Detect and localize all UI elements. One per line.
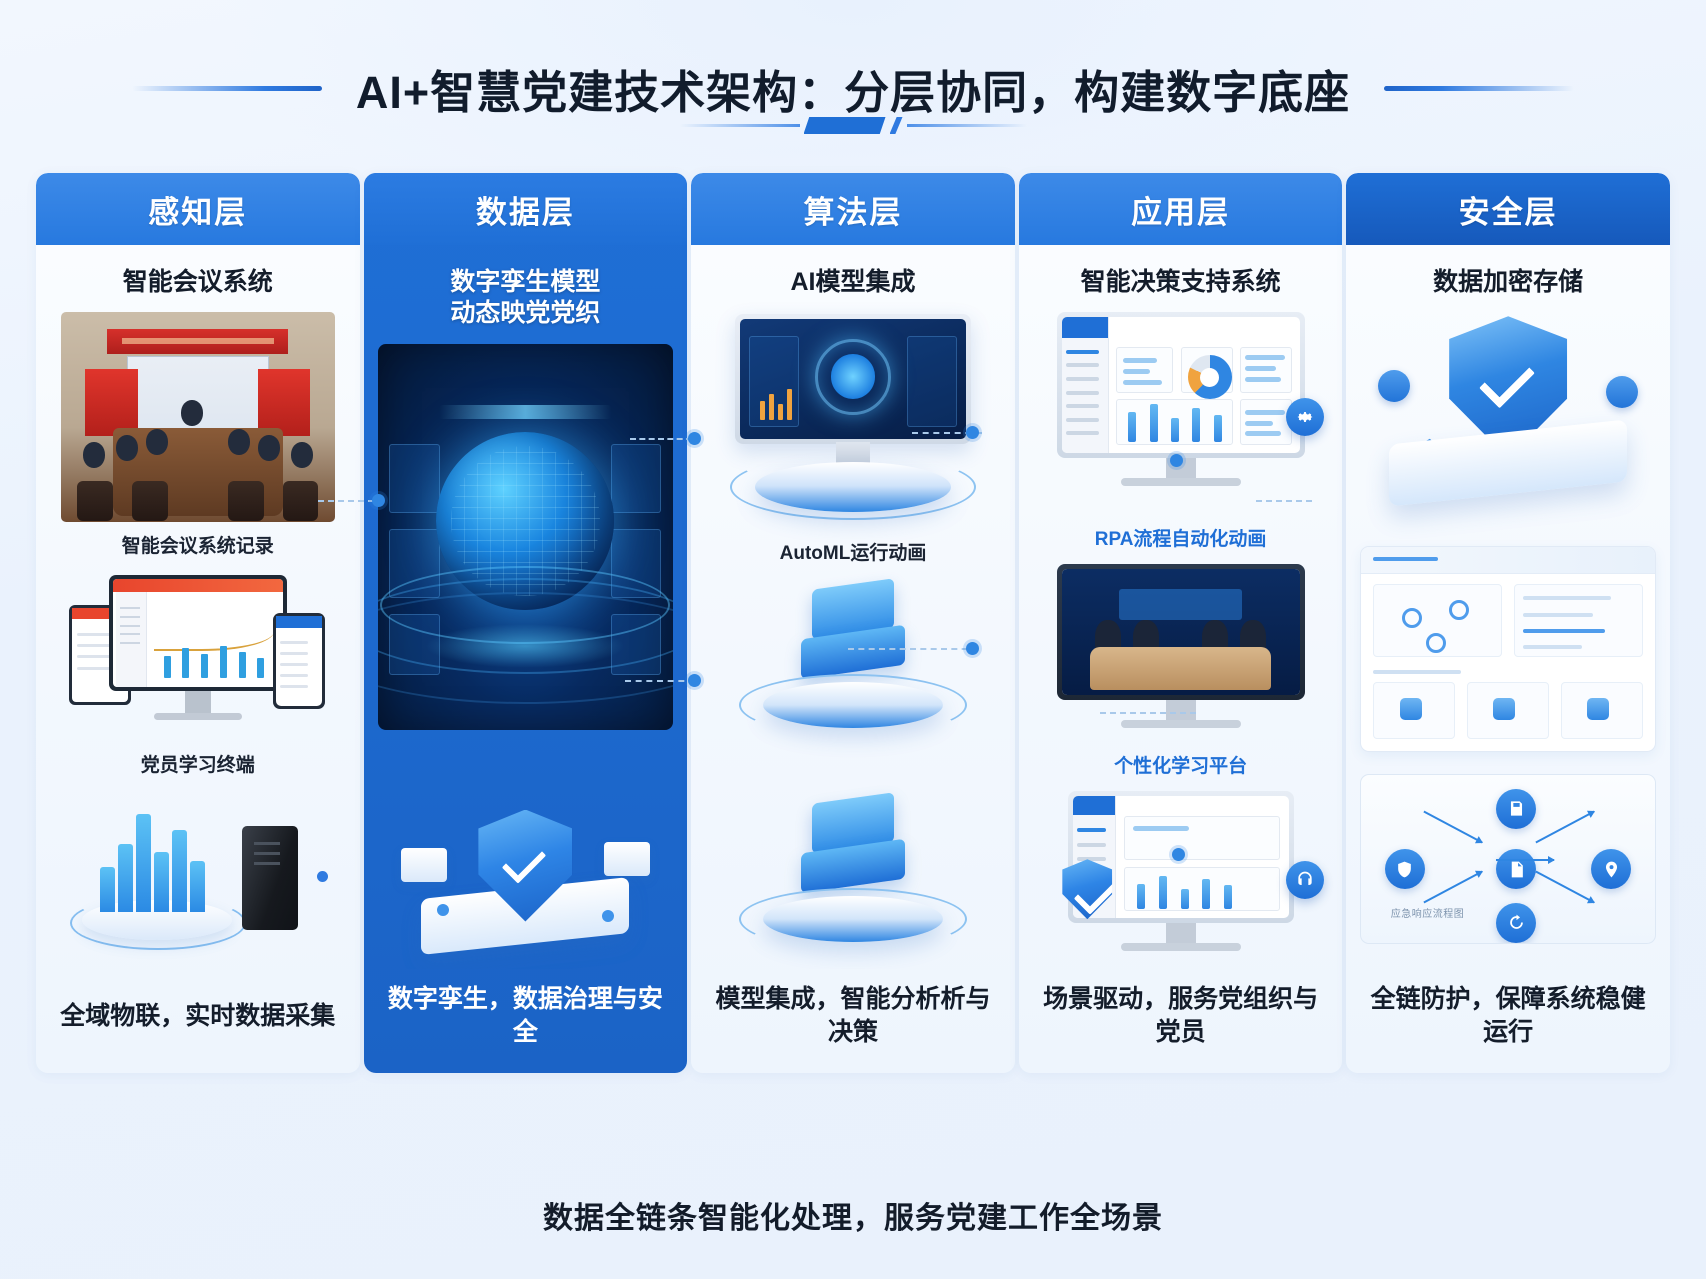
column-header-label: 感知层 [148, 187, 247, 232]
nav-header [1062, 317, 1109, 337]
node-circle [1426, 633, 1446, 653]
twin-header-bar [440, 405, 611, 419]
column-body-application: 智能决策支持系统 [1019, 245, 1343, 969]
underline-shape [804, 117, 886, 134]
list-line [1523, 596, 1611, 600]
nav-item [1066, 404, 1099, 408]
nav-item [1066, 391, 1099, 395]
bar [1128, 412, 1136, 442]
list-line [1523, 645, 1582, 649]
content-line [280, 663, 308, 666]
monitor-screen [740, 319, 966, 439]
phone-screen [276, 616, 322, 706]
flow-arrow [1535, 810, 1594, 843]
column-body-algorithm: AI模型集成 AutoML运行动画 [691, 245, 1015, 969]
column-title: AI模型集成 [790, 267, 915, 298]
nav-item-selected [1066, 350, 1099, 354]
title-rule-left [132, 86, 322, 91]
list-line [1245, 366, 1276, 371]
bar [1159, 876, 1167, 909]
screen-banner [1119, 589, 1243, 619]
phone-device [273, 613, 325, 709]
column-footer-algorithm: 模型集成，智能分析析与决策 [691, 969, 1015, 1073]
flow-arrow [1496, 859, 1554, 861]
podium-base [755, 462, 951, 512]
nav-item [1066, 363, 1099, 367]
column-title: 数字孪生模型 动态映党党织 [450, 267, 600, 330]
content-line [280, 685, 308, 688]
list-line [1523, 629, 1605, 633]
sidebar-nav [1062, 317, 1110, 453]
layer-column-perception[interactable]: 感知层 智能会议系统 [36, 173, 360, 1073]
column-header-perception: 感知层 [36, 173, 360, 245]
title-rule-right [1384, 86, 1574, 91]
bar [1214, 415, 1222, 442]
document-node-icon [1496, 849, 1536, 889]
caption-rpa: RPA流程自动化动画 [1095, 524, 1267, 551]
data-card [401, 848, 447, 882]
emergency-response-card: 应急响应流程图 [1360, 774, 1656, 944]
diagram-caption: 应急响应流程图 [1391, 905, 1465, 920]
meeting-table [1090, 647, 1271, 690]
model-stack-visual [705, 792, 1001, 969]
trend-line [154, 618, 275, 650]
support-icon [1286, 861, 1324, 899]
caption-activity-sensor: 组织活动传感器 [131, 965, 264, 969]
node-dot [437, 904, 449, 916]
column-body-security: 数据加密存储 [1346, 245, 1670, 969]
nav-line [120, 616, 140, 618]
progress-line [1245, 421, 1274, 426]
report-title-line [1373, 557, 1438, 561]
sensor-illustration [64, 790, 332, 956]
column-header-label: 应用层 [1131, 187, 1230, 232]
column-title: 数据加密存储 [1433, 267, 1583, 298]
cloud-icon [1587, 698, 1609, 720]
nav-line [120, 642, 140, 644]
progress-line [1245, 410, 1285, 415]
bar [257, 658, 264, 677]
automl-cubes-visual [705, 578, 1001, 755]
bar [760, 401, 765, 420]
column-header-algorithm: 算法层 [691, 173, 1015, 245]
content-line [280, 674, 308, 677]
layer-column-algorithm[interactable]: 算法层 AI模型集成 [691, 173, 1015, 1073]
security-report-card [1360, 546, 1656, 752]
data-panel [389, 444, 439, 513]
red-banner [107, 329, 288, 354]
alert-node-icon [1591, 849, 1631, 889]
trend-line [1133, 826, 1189, 831]
podium-base [763, 896, 943, 942]
learning-terminal-visual [50, 571, 346, 741]
bar [201, 654, 208, 678]
column-body-perception: 智能会议系统 [36, 245, 360, 969]
attendee [146, 429, 168, 455]
meeting-scene [1062, 569, 1300, 695]
podium-base [763, 682, 943, 728]
page-tagline: 数据全链条智能化处理，服务党建工作全场景 [0, 1193, 1706, 1237]
column-header-label: 数据层 [476, 187, 575, 232]
orbit-ring [378, 592, 674, 704]
monitor-device [735, 314, 971, 444]
bar [1150, 404, 1158, 442]
attendee [181, 400, 203, 426]
encryption-shield-visual [1360, 312, 1656, 522]
flow-arrow [1423, 810, 1482, 843]
monitor-stand [1166, 458, 1196, 480]
platform-plate [1389, 420, 1627, 507]
node-dot [602, 910, 614, 922]
column-title-line2: 动态映党党织 [450, 298, 600, 329]
activity-sensor-visual [50, 790, 346, 956]
bar [182, 648, 189, 677]
ai-model-monitor-visual [705, 312, 1001, 508]
trend-card [1124, 816, 1280, 860]
conference-room-photo [61, 312, 335, 522]
underline-line-right [907, 124, 1027, 127]
monitor-stand [1166, 700, 1196, 722]
column-footer-application: 场景驱动，服务党组织与党员 [1019, 969, 1343, 1073]
monitor-screen [113, 579, 283, 687]
caption-meeting-record: 智能会议系统记录 [122, 531, 274, 558]
data-card [604, 842, 650, 876]
bar [100, 867, 115, 912]
nav-item [1077, 843, 1107, 847]
monitor-device [1057, 312, 1305, 458]
column-header-data: 数据层 [364, 173, 688, 245]
ai-core-hud-icon [815, 339, 891, 415]
content-line [77, 667, 111, 670]
caption-automl: AutoML运行动画 [780, 538, 927, 565]
kpi-line [1123, 358, 1156, 363]
column-footer-perception: 全域物联，实时数据采集 [36, 969, 360, 1073]
underline-line-left [680, 124, 800, 127]
chair [132, 481, 168, 521]
monitor-base [1121, 720, 1241, 728]
bar [118, 844, 133, 913]
underline-tick [890, 117, 903, 134]
kpi-line [1123, 380, 1161, 385]
bar [787, 389, 792, 420]
attendee [116, 435, 138, 461]
bar [164, 656, 171, 678]
server-tower-icon [242, 826, 298, 930]
monitor-base [154, 713, 242, 720]
rpa-meeting-visual [1033, 564, 1329, 742]
flow-arrow [1535, 871, 1594, 904]
monitor-stand [1166, 923, 1196, 945]
nav-line [120, 607, 140, 609]
monitor-device [1057, 564, 1305, 700]
attendee [228, 429, 250, 455]
progress-line [1245, 431, 1281, 436]
architecture-columns: 感知层 智能会议系统 [36, 173, 1670, 1073]
bar [136, 814, 151, 912]
content-line [77, 644, 111, 647]
nav-item [1066, 431, 1099, 435]
column-title: 智能会议系统 [123, 267, 273, 298]
metrics-panel-right [907, 336, 957, 427]
content-line [280, 652, 308, 655]
caption-learning-platform-1: 个性化学习平台 [1114, 751, 1247, 778]
bar [1202, 879, 1210, 908]
nav-item [1077, 857, 1107, 861]
bar [1181, 889, 1189, 909]
bar [154, 852, 169, 913]
list-line [1245, 355, 1285, 360]
database-icon [1400, 698, 1422, 720]
column-body-data: 数字孪生模型 动态映党党织 [364, 245, 688, 969]
column-title-line1: 数字孪生模型 [450, 267, 600, 298]
layer-column-application[interactable]: 应用层 智能决策支持系统 [1019, 173, 1343, 1073]
meeting-photo-visual [50, 312, 346, 522]
data-panel [611, 444, 661, 513]
bar [239, 652, 246, 678]
nav-item [1066, 377, 1099, 381]
monitor-base [1121, 478, 1241, 486]
bar-cluster [100, 814, 220, 912]
monitor-stand [185, 691, 211, 713]
page-title: AI+智慧党建技术架构：分层协同，构建数字底座 [356, 56, 1350, 121]
save-node-icon [1496, 789, 1536, 829]
desktop-monitor [109, 575, 287, 691]
bar [769, 394, 774, 420]
page-header: AI+智慧党建技术架构：分层协同，构建数字底座 [0, 0, 1706, 150]
content-line [280, 641, 308, 644]
flag-icon [258, 369, 288, 436]
nav-item-selected [1077, 828, 1107, 832]
chair [228, 481, 264, 521]
content-line [77, 655, 111, 658]
nav-item [1066, 418, 1099, 422]
chair-row [61, 463, 335, 522]
title-underline-ornament [0, 117, 1706, 134]
bar [1171, 418, 1179, 442]
monitor-base [1121, 943, 1241, 951]
donut-chart [1188, 355, 1232, 399]
decision-dashboard-visual [1033, 312, 1329, 502]
list-line [1523, 613, 1593, 617]
flow-arrow [1423, 871, 1482, 904]
bar [1137, 884, 1145, 908]
layer-column-data[interactable]: 数据层 数字孪生模型 动态映党党织 [364, 173, 688, 1073]
multi-device-mockup [65, 571, 331, 741]
meeting-screen [1062, 569, 1300, 695]
server-icon [1493, 698, 1515, 720]
column-footer-security: 全链防护，保障系统稳健运行 [1346, 969, 1670, 1073]
column-header-application: 应用层 [1019, 173, 1343, 245]
gear-icon [1286, 398, 1324, 436]
section-title-line [1373, 670, 1461, 674]
bar [220, 646, 227, 677]
key-chip-icon [1606, 376, 1638, 408]
bar [172, 830, 187, 912]
nav-line [120, 633, 140, 635]
content-line [77, 633, 111, 636]
nav-header [1073, 796, 1115, 814]
bar [778, 404, 783, 420]
connector-node [317, 871, 328, 882]
kpi-line [1123, 369, 1149, 374]
data-security-visual [378, 786, 674, 966]
bar [190, 861, 205, 912]
bar [1192, 408, 1200, 442]
column-header-security: 安全层 [1346, 173, 1670, 245]
digital-twin-panel [378, 344, 674, 730]
nav-line [120, 625, 140, 627]
column-header-label: 算法层 [803, 187, 902, 232]
layer-column-security[interactable]: 安全层 数据加密存储 [1346, 173, 1670, 1073]
lock-chip-icon [1378, 370, 1410, 402]
bar [1224, 885, 1232, 908]
shield-node-icon [1385, 849, 1425, 889]
chair [283, 481, 319, 521]
personal-learning-visual [1033, 791, 1329, 963]
column-header-label: 安全层 [1459, 187, 1558, 232]
caption-learning-terminal: 党员学习终端 [141, 750, 255, 777]
column-title: 智能决策支持系统 [1081, 267, 1281, 298]
chair [77, 481, 113, 521]
list-line [1245, 377, 1281, 382]
column-footer-data: 数字孪生，数据治理与安全 [364, 969, 688, 1073]
flag-icon [107, 369, 137, 436]
dashboard-screen [1062, 317, 1300, 453]
refresh-node-icon [1496, 903, 1536, 943]
attendee [258, 435, 280, 461]
